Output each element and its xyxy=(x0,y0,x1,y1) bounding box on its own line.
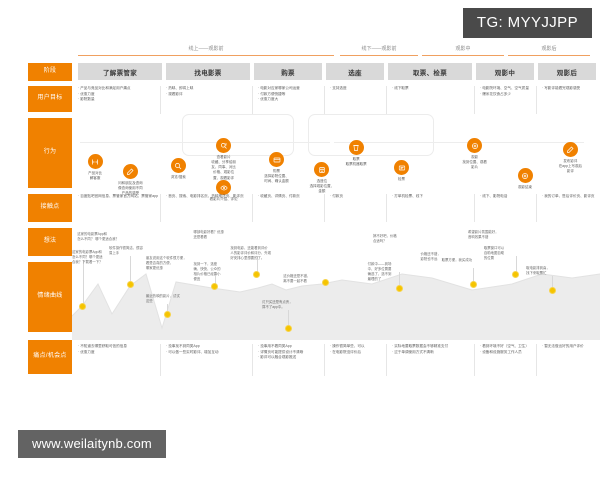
emotion-dot[interactable] xyxy=(254,272,259,277)
touchpoints-item: 收藏页、详情页、付款页 xyxy=(258,194,322,200)
journey-grid: 线上——观影前 线下——观影前 观影中 观影后 了解票管家 找电影票 购票 选座… xyxy=(72,44,600,424)
row-label-pain: 痛点/机会点 xyxy=(28,340,72,374)
behaviour-node-caption: 检票 xyxy=(374,177,430,182)
goals-cell-4: 线下取票 xyxy=(392,86,474,92)
emotion-quote: 找到电影、还能看到评价人的影评评价和评分，外观好安排心里想要的了。 xyxy=(230,246,276,261)
touchpoints-cell-1: 首页、搜索、电影排名页、热映推送页、影评页 xyxy=(166,194,252,200)
touchpoints-cell-0: 百度贴吧官网信息、票管家官方网站、票管家app xyxy=(78,194,160,200)
pain-item: 暂无法做出好的用户评价 xyxy=(542,344,596,350)
row-label-goals: 用户目标 xyxy=(28,86,72,112)
pain-item: 过于单调使用方式不清晰 xyxy=(392,350,472,356)
group-during: 观影中 xyxy=(422,44,504,62)
emotion-stem xyxy=(130,256,131,282)
behaviour-node[interactable]: 发布影评在app上写观后影评 xyxy=(542,142,598,174)
stage-chip-find[interactable]: 找电影票 xyxy=(166,63,250,80)
scan-icon xyxy=(394,160,409,175)
touchpoints-item: 线下、影院电话 xyxy=(480,194,534,200)
behaviour-node-caption: 发布影评在app上写观后影评 xyxy=(542,159,598,175)
pain-cell-6: 暂无法做出好的用户评价 xyxy=(542,344,598,350)
row-label-column: 阶段 用户目标 行为 接触点 想法 情绪曲线 痛点/机会点 xyxy=(0,44,72,424)
emotion-stem xyxy=(473,268,474,282)
thought-note: 希望影片氛围能好，音响效果不错 xyxy=(468,230,514,240)
filter-icon xyxy=(216,138,231,153)
row-label-stage: 阶段 xyxy=(28,63,72,81)
card-icon xyxy=(269,152,284,167)
goals-item: 写影评能看完观影感受 xyxy=(542,86,596,92)
touchpoints-cell-2: 收藏页、详情页、付款页 xyxy=(258,194,324,200)
stage-chip-buy[interactable]: 购票 xyxy=(254,63,322,80)
row-label-emotion: 情绪曲线 xyxy=(28,262,72,332)
telegram-watermark: TG: MYYJJPP xyxy=(463,8,592,38)
journey-map: 阶段 用户目标 行为 接触点 想法 情绪曲线 痛点/机会点 线上——观影前 线下… xyxy=(0,44,600,424)
pain-item: 看到环境不好（空气、卫生） xyxy=(480,344,534,350)
site-watermark: www.weilaitynb.com xyxy=(18,430,166,458)
emotion-dot[interactable] xyxy=(165,312,170,317)
film-icon xyxy=(518,168,533,183)
edit-icon xyxy=(563,142,578,157)
stage-chip-during[interactable]: 观影中 xyxy=(476,63,534,80)
touchpoints-cell-4: 打单机检票、线下 xyxy=(392,194,474,200)
stage-chip-understand[interactable]: 了解票管家 xyxy=(78,63,162,80)
row-label-touchpoints: 接触点 xyxy=(28,194,72,222)
thought-note: 这家的电影票App和怎么不同？ 哪个更适合我？ xyxy=(77,232,123,242)
pain-cell-2: 没事用不着同类App详情页可能提供设计不清晰影评可以融合观影推送 xyxy=(258,344,324,361)
group-offline-pre: 线下——观影前 xyxy=(340,44,418,62)
emotion-stem xyxy=(288,310,289,326)
behaviour-node[interactable]: 观影找到位置、观看影片 xyxy=(447,138,503,170)
stage-chip-row: 了解票管家 找电影票 购票 选座 取票、检票 观影中 观影后 xyxy=(72,63,600,81)
emotion-dot[interactable] xyxy=(286,326,291,331)
emotion-dot[interactable] xyxy=(550,288,555,293)
film-icon xyxy=(467,138,482,153)
emotion-stem xyxy=(167,304,168,312)
goals-item: 优惠力度大 xyxy=(258,97,322,103)
goals-item: 观看影评 xyxy=(166,92,250,98)
goals-band: 产品与竞品对比和满足用户痛点优惠力度影院数量 热映、即将上映观看影评 电影对应家… xyxy=(72,86,600,114)
pain-cell-1: 没事找不到同类App可以做一些实时影评、增加互动 xyxy=(166,344,252,355)
compare-icon xyxy=(88,154,103,169)
goals-item: 爆米花饮食占多少 xyxy=(480,92,534,98)
behaviour-node-caption: 选座位选择观影位置、金额 xyxy=(294,179,350,195)
stage-chip-seat[interactable]: 选座 xyxy=(326,63,384,80)
ticket-icon xyxy=(349,140,364,155)
eye-icon xyxy=(216,180,231,195)
pain-band: 不知道去哪里获取可信的信息优惠力度 没事找不到同类App可以做一些实时影评、增加… xyxy=(72,344,600,376)
pain-item: 优惠力度 xyxy=(78,350,158,356)
emotion-quote: 找到一下，选座确、快快、公众的相片价格已经算小便宜 xyxy=(193,262,239,282)
goals-cell-6: 写影评能看完观影感受 xyxy=(542,86,598,92)
emotion-band: 这家的电影票App和怎么不同？哪个更适合我？下载看一下？软件操作很简洁，很容易上… xyxy=(72,244,600,340)
group-header-row: 线上——观影前 线下——观影前 观影中 观影后 xyxy=(72,44,600,62)
pain-cell-3: 操作很简单些、可以在电影院没评价后 xyxy=(330,344,386,355)
goals-item: 支持选座 xyxy=(330,86,384,92)
emotion-dot[interactable] xyxy=(471,282,476,287)
emotion-quote: 最近热映的影片，试试这些 xyxy=(146,294,192,304)
behaviour-node-caption: 观影结束 xyxy=(497,185,553,190)
goals-cell-3: 支持选座 xyxy=(330,86,386,92)
goals-cell-5: 电影院环境、空气、空气质量爆米花饮食占多少 xyxy=(480,86,536,97)
edit-icon xyxy=(123,164,138,179)
emotion-quote: 付款中——到场中、好多位置要确选了、选不到最理的了 xyxy=(368,262,414,282)
emotion-dot[interactable] xyxy=(397,286,402,291)
touchpoints-band: 百度贴吧官网信息、票管家官方网站、票管家app 首页、搜索、电影排名页、热映推送… xyxy=(72,194,600,222)
thought-note: 哪部电影好看？优惠还是看看 xyxy=(193,230,239,240)
emotion-quote: 取票窗口可以自助地图自助的位置 xyxy=(484,246,530,261)
pain-cell-4: 实际地要取票数据会不够精准支付过于单调使用方式不清晰 xyxy=(392,344,474,355)
emotion-quote: 软件操作很简洁，很容易上手 xyxy=(109,246,155,256)
touchpoints-item: 首页、搜索、电影排名页、热映推送页、影评页 xyxy=(166,194,250,200)
behaviour-node[interactable]: 查看影片收藏、分享给朋友、同事、对比价格、观影位置、观看影评 xyxy=(196,138,252,181)
goals-cell-1: 热映、即将上映观看影评 xyxy=(166,86,252,97)
behaviour-node[interactable]: 检票 xyxy=(374,160,430,182)
pain-cell-5: 看到环境不好（空气、卫生）设备和设施服务工作人员 xyxy=(480,344,536,355)
pain-item: 可以做一些实时影评、增加互动 xyxy=(166,350,250,356)
goals-cell-0: 产品与竞品对比和满足用户痛点优惠力度影院数量 xyxy=(78,86,160,103)
emotion-dot[interactable] xyxy=(323,280,328,285)
pain-item: 设备和设施服务工作人员 xyxy=(480,350,534,356)
stage-chip-after[interactable]: 观影后 xyxy=(538,63,596,80)
touchpoints-cell-6: 我的订单、售后评价页、影评页 xyxy=(542,194,598,200)
emotion-dot[interactable] xyxy=(212,284,217,289)
row-label-thoughts: 想法 xyxy=(28,228,72,256)
row-label-behaviour: 行为 xyxy=(28,118,72,188)
thought-note: 搞不好吧，价格合适吗？ xyxy=(373,234,419,244)
behaviour-node-caption: 观影找到位置、观看影片 xyxy=(447,155,503,171)
pain-cell-0: 不知道去哪里获取可信的信息优惠力度 xyxy=(78,344,160,355)
emotion-stem xyxy=(83,260,84,304)
search-icon xyxy=(171,158,186,173)
goals-item: 影院数量 xyxy=(78,97,158,103)
emotion-quote: 取电影排到喜，找下来取票忙 xyxy=(526,266,572,276)
group-after: 观影后 xyxy=(508,44,590,62)
emotion-dot[interactable] xyxy=(128,282,133,287)
emotion-quote: 取票方便，我买成功 xyxy=(442,258,488,263)
pain-item: 在电影院没评价后 xyxy=(330,350,384,356)
touchpoints-cell-3: 付款页 xyxy=(330,194,386,200)
behaviour-band: 产品对比解客服问和朋友及咨询像查询使用不同产品的感受浏览/搜索查看影片收藏、分享… xyxy=(72,118,600,192)
touchpoints-item: 我的订单、售后评价页、影评页 xyxy=(542,194,596,200)
goals-cell-2: 电影对应家哪家公司运营付款方便快捷等优惠力度大 xyxy=(258,86,324,103)
touchpoints-item: 付款页 xyxy=(330,194,384,200)
touchpoints-item: 打单机检票、线下 xyxy=(392,194,472,200)
touchpoints-cell-5: 线下、影院电话 xyxy=(480,194,536,200)
seat-icon xyxy=(314,162,329,177)
goals-item: 电影院环境、空气、空气质量 xyxy=(480,86,534,92)
emotion-dot[interactable] xyxy=(80,304,85,309)
stage-chip-ticket[interactable]: 取票、检票 xyxy=(388,63,472,80)
emotion-stem xyxy=(552,276,553,288)
emotion-dot[interactable] xyxy=(513,272,518,277)
touchpoints-item: 百度贴吧官网信息、票管家官方网站、票管家app xyxy=(78,194,158,200)
emotion-quote: 灯只买还是有点贵，算不了app中。 xyxy=(262,300,308,310)
goals-item: 线下取票 xyxy=(392,86,472,92)
pain-item: 影评可以融合观影推送 xyxy=(258,355,322,361)
group-online-pre: 线上——观影前 xyxy=(78,44,334,62)
behaviour-node-caption: 查看影片收藏、分享给朋友、同事、对比价格、观影位置、观看影评 xyxy=(196,155,252,181)
